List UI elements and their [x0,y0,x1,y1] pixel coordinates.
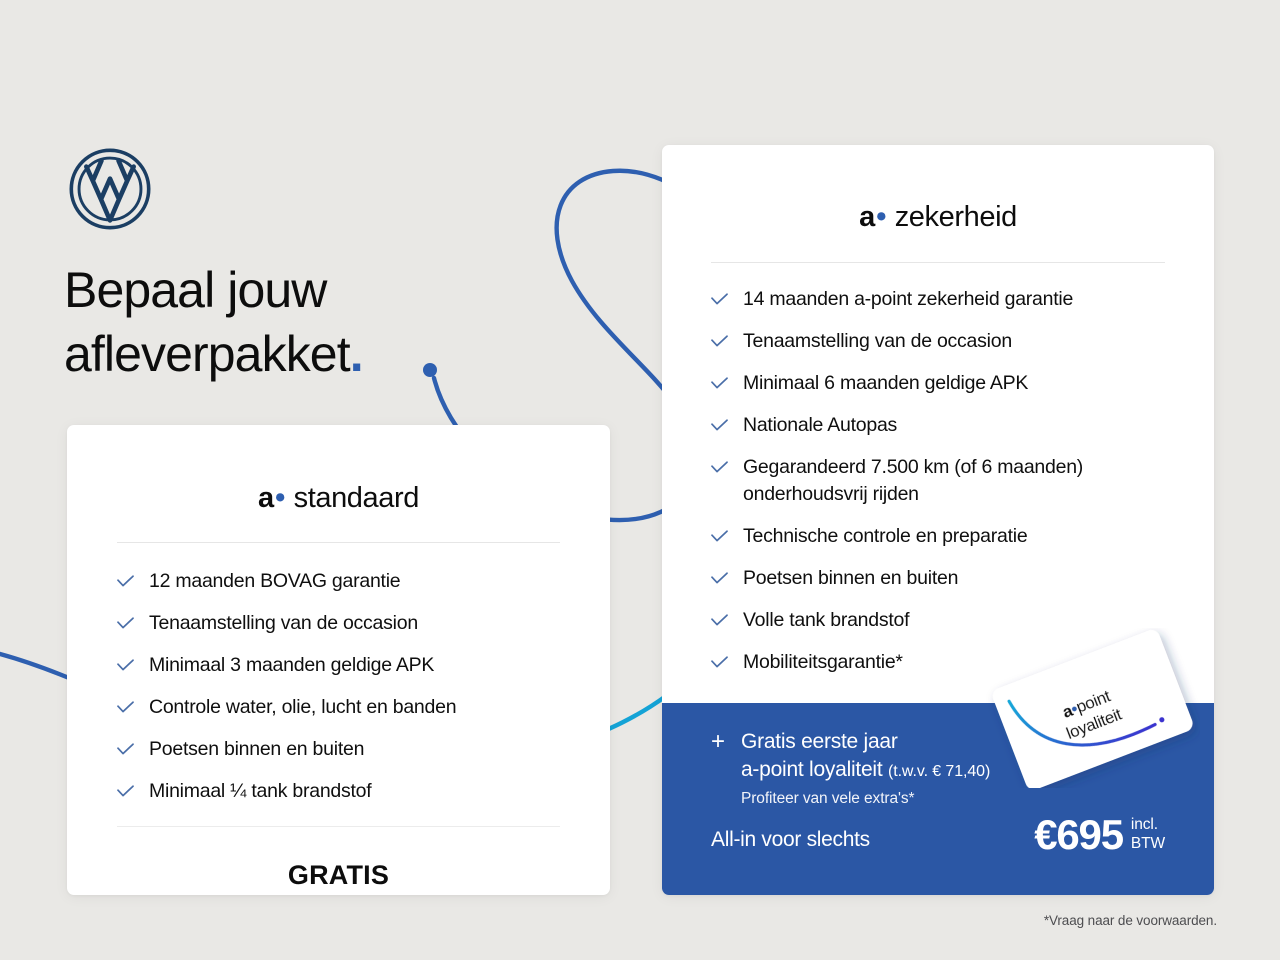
bonus-line-1: Gratis eerste jaar [741,728,990,756]
brand-dot-icon: • [275,482,285,514]
check-icon [711,565,728,592]
list-item: Volle tank brandstof [711,607,1165,634]
list-item: Tenaamstelling van de occasion [117,610,560,637]
list-item-label: Technische controle en preparatie [743,523,1027,550]
bonus-line-2-note: (t.w.v. € 71,40) [888,763,990,780]
list-item: Poetsen binnen en buiten [117,736,560,763]
headline-line-1: Bepaal jouw [64,262,327,318]
check-icon [711,328,728,355]
page-canvas: Bepaal jouw afleverpakket. a• standaard … [0,0,1280,960]
price-block: €695 incl. BTW [1034,813,1165,857]
list-item: Tenaamstelling van de occasion [711,328,1165,355]
check-icon [711,370,728,397]
zekerheid-price-panel: + Gratis eerste jaar a-point loyaliteit … [662,703,1214,895]
check-icon [711,286,728,313]
list-item-label: Poetsen binnen en buiten [149,736,364,763]
package-card-standaard[interactable]: a• standaard 12 maanden BOVAG garantie T… [67,425,610,895]
package-card-zekerheid[interactable]: a• zekerheid 14 maanden a-point zekerhei… [662,145,1214,895]
card-zekerheid-feature-list: 14 maanden a-point zekerheid garantie Te… [711,263,1165,676]
card-standaard-price: GRATIS [117,827,560,891]
card-standaard-feature-list: 12 maanden BOVAG garantie Tenaamstelling… [117,543,560,805]
price-amount: €695 [1034,813,1123,857]
list-item-label: Minimaal ¼ tank brandstof [149,778,371,805]
check-icon [711,523,728,550]
loyalty-bonus-row: + Gratis eerste jaar a-point loyaliteit … [711,728,1165,811]
check-icon [117,736,134,763]
zekerheid-price-row: All-in voor slechts €695 incl. BTW [711,813,1165,857]
brand-a-letter: a [258,482,274,514]
list-item: Poetsen binnen en buiten [711,565,1165,592]
list-item-label: Tenaamstelling van de occasion [743,328,1012,355]
list-item-label: Poetsen binnen en buiten [743,565,958,592]
check-icon [711,454,728,481]
check-icon [117,610,134,637]
list-item: Minimaal ¼ tank brandstof [117,778,560,805]
list-item: Minimaal 3 maanden geldige APK [117,652,560,679]
list-item-label: Nationale Autopas [743,412,897,439]
list-item: Nationale Autopas [711,412,1165,439]
card-standaard-title-text: standaard [294,482,419,514]
list-item: 12 maanden BOVAG garantie [117,568,560,595]
list-item: Minimaal 6 maanden geldige APK [711,370,1165,397]
brand-dot-icon: • [876,201,886,233]
list-item: Gegarandeerd 7.500 km (of 6 maanden) ond… [711,454,1165,508]
headline-line-2: afleverpakket [64,326,350,382]
list-item: 14 maanden a-point zekerheid garantie [711,286,1165,313]
list-item-label: Gegarandeerd 7.500 km (of 6 maanden) ond… [743,454,1165,508]
list-item-label: Controle water, olie, lucht en banden [149,694,456,721]
plus-icon: + [711,728,741,756]
list-item-label: 12 maanden BOVAG garantie [149,568,400,595]
list-item-label: Minimaal 6 maanden geldige APK [743,370,1028,397]
list-item: Technische controle en preparatie [711,523,1165,550]
list-item-label: Mobiliteitsgarantie* [743,649,903,676]
bonus-line-2-main: a-point loyaliteit [741,758,882,781]
check-icon [711,649,728,676]
card-zekerheid-title-text: zekerheid [895,201,1017,233]
page-title: Bepaal jouw afleverpakket. [64,258,363,386]
headline-dot: . [350,326,363,382]
list-item: Controle water, olie, lucht en banden [117,694,560,721]
list-item-label: 14 maanden a-point zekerheid garantie [743,286,1073,313]
list-item-label: Tenaamstelling van de occasion [149,610,418,637]
list-item-label: Volle tank brandstof [743,607,909,634]
check-icon [711,607,728,634]
list-item: Mobiliteitsgarantie* [711,649,1165,676]
volkswagen-logo-icon [67,146,153,232]
check-icon [117,694,134,721]
check-icon [117,652,134,679]
card-zekerheid-title: a• zekerheid [711,169,1165,234]
card-standaard-title: a• standaard [117,449,560,515]
footnote-text: *Vraag naar de voorwaarden. [1044,913,1217,928]
check-icon [117,778,134,805]
check-icon [117,568,134,595]
brand-a-letter: a [859,201,875,233]
bonus-line-3: Profiteer van vele extra's* [741,786,990,811]
check-icon [711,412,728,439]
list-item-label: Minimaal 3 maanden geldige APK [149,652,434,679]
price-vat-note: incl. BTW [1131,815,1165,853]
price-label: All-in voor slechts [711,827,870,857]
